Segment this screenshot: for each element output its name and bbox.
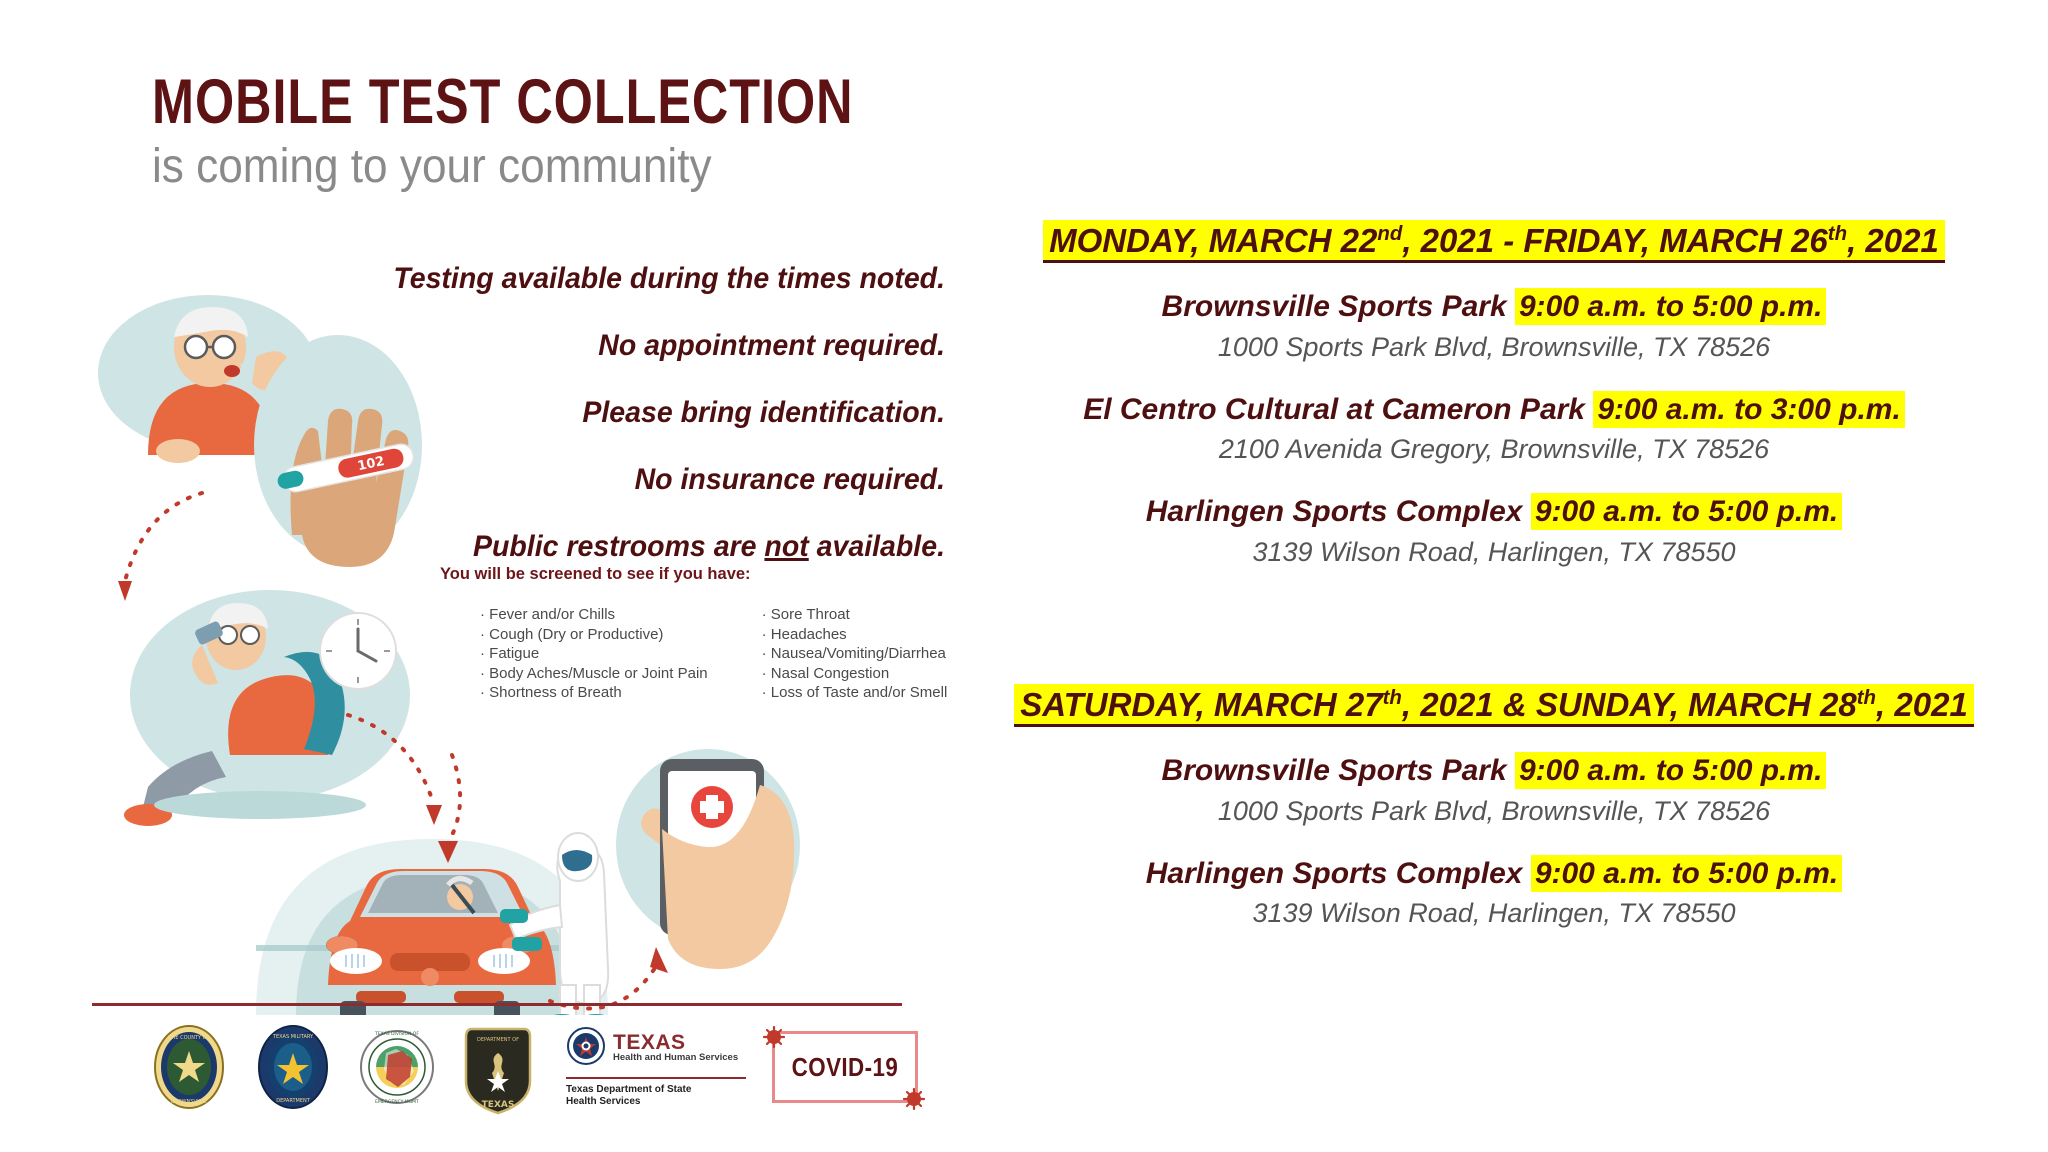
screening-item: Sore Throat bbox=[762, 606, 948, 623]
location-name: El Centro Cultural at Cameron Park bbox=[1083, 393, 1585, 426]
location-name: Harlingen Sports Complex bbox=[1146, 495, 1523, 528]
hhs-subtitle: Health and Human Services bbox=[613, 1053, 738, 1064]
virus-icon bbox=[901, 1086, 927, 1112]
hhs-footer-line-1: Texas Department of State bbox=[566, 1084, 746, 1097]
date-year-a: , 2021 & bbox=[1402, 686, 1536, 723]
date-range-day-b: SUNDAY, MARCH 28 bbox=[1536, 686, 1857, 723]
screening-item: Fatigue bbox=[480, 645, 708, 662]
screening-item: Fever and/or Chills bbox=[480, 606, 708, 623]
page-title: MOBILE TEST COLLECTION bbox=[152, 72, 784, 134]
location-name: Brownsville Sports Park bbox=[1162, 754, 1507, 787]
location-entry: Brownsville Sports Park 9:00 a.m. to 5:0… bbox=[940, 290, 2048, 363]
schedule-block-weekdays: MONDAY, MARCH 22nd, 2021 - FRIDAY, MARCH… bbox=[940, 222, 2048, 568]
screening-item: Loss of Taste and/or Smell bbox=[762, 684, 948, 701]
screening-panel: You will be screened to see if you have:… bbox=[440, 565, 870, 717]
page-subtitle: is coming to your community bbox=[152, 142, 879, 192]
svg-text:DEPARTMENT: DEPARTMENT bbox=[276, 1098, 311, 1104]
date-year-b: , 2021 bbox=[1876, 686, 1968, 723]
screening-item: Body Aches/Muscle or Joint Pain bbox=[480, 665, 708, 682]
location-address: 3139 Wilson Road, Harlingen, TX 78550 bbox=[940, 537, 2048, 568]
screening-item: Shortness of Breath bbox=[480, 684, 708, 701]
location-entry: El Centro Cultural at Cameron Park 9:00 … bbox=[940, 393, 2048, 466]
hand-phone: COVID-19 NEGATIVE bbox=[641, 759, 794, 969]
logo-row: THE COUNTY OF BROWNSVILLE TEXAS MILITARY… bbox=[150, 1012, 910, 1122]
svg-text:DEPARTMENT OF: DEPARTMENT OF bbox=[477, 1037, 519, 1043]
covid-badge-label: COVID-19 bbox=[792, 1052, 899, 1083]
hhs-divider bbox=[566, 1077, 746, 1079]
left-column: MOBILE TEST COLLECTION is coming to your… bbox=[0, 0, 940, 1152]
location-address: 1000 Sports Park Blvd, Brownsville, TX 7… bbox=[940, 332, 2048, 363]
svg-text:EMERGENCY MGMT: EMERGENCY MGMT bbox=[375, 1099, 419, 1105]
date-ordinal-a: nd bbox=[1377, 222, 1402, 245]
hhs-footer-line-2: Health Services bbox=[566, 1096, 746, 1109]
poster-root: MOBILE TEST COLLECTION is coming to your… bbox=[0, 0, 2048, 1152]
date-range-day-a: SATURDAY, MARCH 27 bbox=[1020, 686, 1382, 723]
date-range-day-a: MONDAY, MARCH 22 bbox=[1049, 222, 1377, 259]
screening-column-left: Fever and/or Chills Cough (Dry or Produc… bbox=[440, 606, 708, 701]
location-time: 9:00 a.m. to 5:00 p.m. bbox=[1531, 855, 1842, 892]
schedule-column: MONDAY, MARCH 22nd, 2021 - FRIDAY, MARCH… bbox=[940, 0, 2048, 1152]
hhs-wordmark: TEXAS bbox=[613, 1032, 738, 1053]
virus-icon bbox=[761, 1024, 787, 1050]
svg-text:TEXAS: TEXAS bbox=[482, 1100, 515, 1110]
location-time: 9:00 a.m. to 5:00 p.m. bbox=[1531, 493, 1842, 530]
location-entry: Harlingen Sports Complex 9:00 a.m. to 5:… bbox=[940, 857, 2048, 930]
svg-text:THE COUNTY OF: THE COUNTY OF bbox=[168, 1035, 210, 1041]
location-address: 3139 Wilson Road, Harlingen, TX 78550 bbox=[940, 898, 2048, 929]
date-ordinal-a: th bbox=[1383, 686, 1402, 709]
date-year-a: , 2021 - bbox=[1402, 222, 1523, 259]
screening-item: Nasal Congestion bbox=[762, 665, 948, 682]
wall-clock-icon bbox=[320, 613, 396, 689]
svg-text:TEXAS MILITARY: TEXAS MILITARY bbox=[272, 1034, 314, 1040]
location-entry: Harlingen Sports Complex 9:00 a.m. to 5:… bbox=[940, 495, 2048, 568]
divider-rule bbox=[92, 1003, 902, 1006]
texas-division-emergency-management-seal-icon: TEXAS DIVISION OF EMERGENCY MGMT bbox=[358, 1023, 436, 1111]
date-ordinal-b: th bbox=[1857, 686, 1876, 709]
screening-heading: You will be screened to see if you have: bbox=[440, 565, 870, 584]
svg-text:BROWNSVILLE: BROWNSVILLE bbox=[171, 1099, 207, 1105]
screening-item: Headaches bbox=[762, 626, 948, 643]
location-address: 2100 Avenida Gregory, Brownsville, TX 78… bbox=[940, 434, 2048, 465]
location-time: 9:00 a.m. to 3:00 p.m. bbox=[1593, 391, 1904, 428]
location-address: 1000 Sports Park Blvd, Brownsville, TX 7… bbox=[940, 796, 2048, 827]
location-time: 9:00 a.m. to 5:00 p.m. bbox=[1515, 752, 1826, 789]
cameron-county-seal-icon: THE COUNTY OF BROWNSVILLE bbox=[150, 1023, 228, 1111]
texas-hhs-seal-icon bbox=[566, 1026, 606, 1070]
covid-19-badge: COVID-19 bbox=[772, 1031, 918, 1103]
screening-item: Nausea/Vomiting/Diarrhea bbox=[762, 645, 948, 662]
texas-military-department-seal-icon: TEXAS MILITARY DEPARTMENT bbox=[254, 1023, 332, 1111]
screening-item: Cough (Dry or Productive) bbox=[480, 626, 708, 643]
title-block: MOBILE TEST COLLECTION is coming to your… bbox=[152, 72, 942, 192]
texas-dps-seal-icon: DEPARTMENT OF TEXAS bbox=[462, 1023, 540, 1111]
schedule-block-weekend: SATURDAY, MARCH 27th, 2021 & SUNDAY, MAR… bbox=[940, 686, 2048, 929]
location-time: 9:00 a.m. to 5:00 p.m. bbox=[1515, 288, 1826, 325]
texas-hhs-logo: TEXAS Health and Human Services Texas De… bbox=[566, 1026, 746, 1109]
screening-column-right: Sore Throat Headaches Nausea/Vomiting/Di… bbox=[722, 606, 948, 701]
date-year-b: , 2021 bbox=[1847, 222, 1939, 259]
schedule-date-header: SATURDAY, MARCH 27th, 2021 & SUNDAY, MAR… bbox=[940, 686, 2048, 724]
schedule-date-header: MONDAY, MARCH 22nd, 2021 - FRIDAY, MARCH… bbox=[940, 222, 2048, 260]
dashed-arrow-icon bbox=[118, 493, 202, 601]
svg-text:TEXAS DIVISION OF: TEXAS DIVISION OF bbox=[374, 1031, 419, 1037]
location-entry: Brownsville Sports Park 9:00 a.m. to 5:0… bbox=[940, 754, 2048, 827]
date-ordinal-b: th bbox=[1828, 222, 1847, 245]
location-name: Harlingen Sports Complex bbox=[1146, 857, 1523, 890]
location-name: Brownsville Sports Park bbox=[1162, 290, 1507, 323]
date-range-day-b: FRIDAY, MARCH 26 bbox=[1523, 222, 1827, 259]
